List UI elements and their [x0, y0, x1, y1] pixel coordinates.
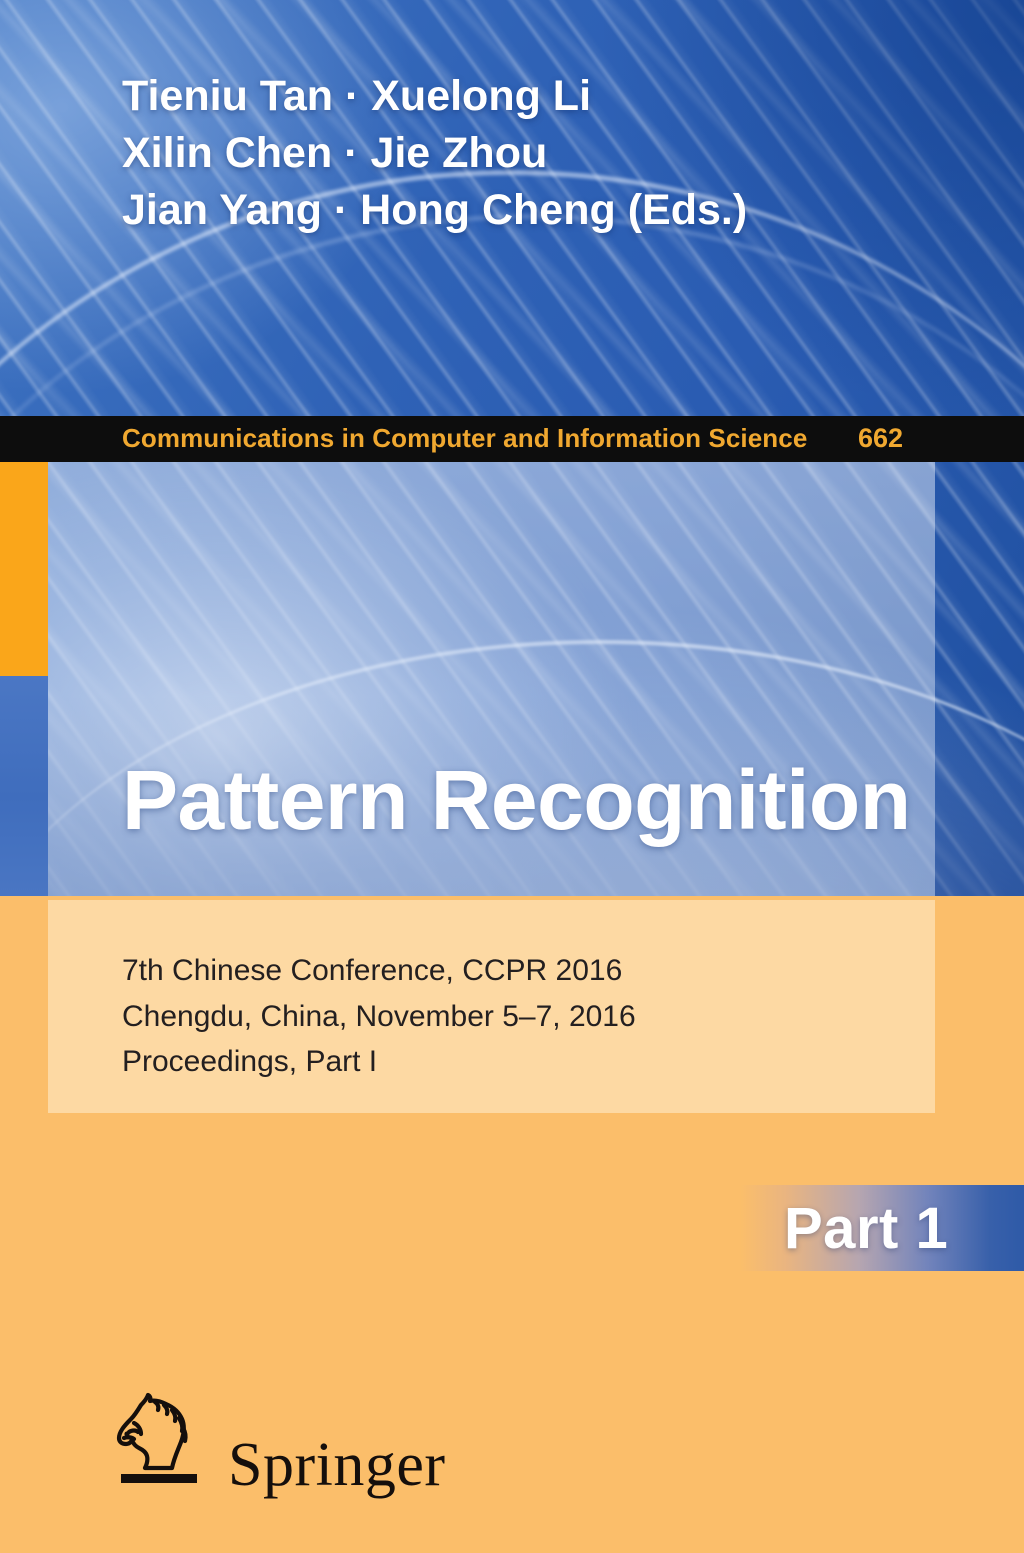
subtitle-line-2: Chengdu, China, November 5–7, 2016 — [122, 994, 882, 1040]
left-orange-tab — [0, 462, 48, 676]
left-blue-tab — [0, 676, 48, 896]
series-banner: Communications in Computer and Informati… — [0, 416, 1024, 462]
subtitle-line-3: Proceedings, Part I — [122, 1039, 882, 1085]
subtitle-line-1: 7th Chinese Conference, CCPR 2016 — [122, 948, 882, 994]
subtitle-block: 7th Chinese Conference, CCPR 2016 Chengd… — [122, 948, 882, 1085]
editors-line-3: Jian Yang · Hong Cheng (Eds.) — [122, 182, 942, 239]
part-badge: Part 1 — [740, 1185, 1024, 1271]
series-name: Communications in Computer and Informati… — [122, 423, 807, 454]
series-volume-number: 662 — [858, 423, 903, 454]
editors-line-2: Xilin Chen · Jie Zhou — [122, 125, 942, 182]
publisher-logo: Springer — [110, 1392, 446, 1505]
editors-line-1: Tieniu Tan · Xuelong Li — [122, 68, 942, 125]
springer-knight-icon — [110, 1392, 206, 1505]
book-cover: Tieniu Tan · Xuelong Li Xilin Chen · Jie… — [0, 0, 1024, 1553]
page-title: Pattern Recognition — [122, 758, 922, 844]
editors-block: Tieniu Tan · Xuelong Li Xilin Chen · Jie… — [122, 68, 942, 240]
publisher-name: Springer — [228, 1436, 446, 1495]
part-badge-label: Part 1 — [784, 1195, 948, 1262]
